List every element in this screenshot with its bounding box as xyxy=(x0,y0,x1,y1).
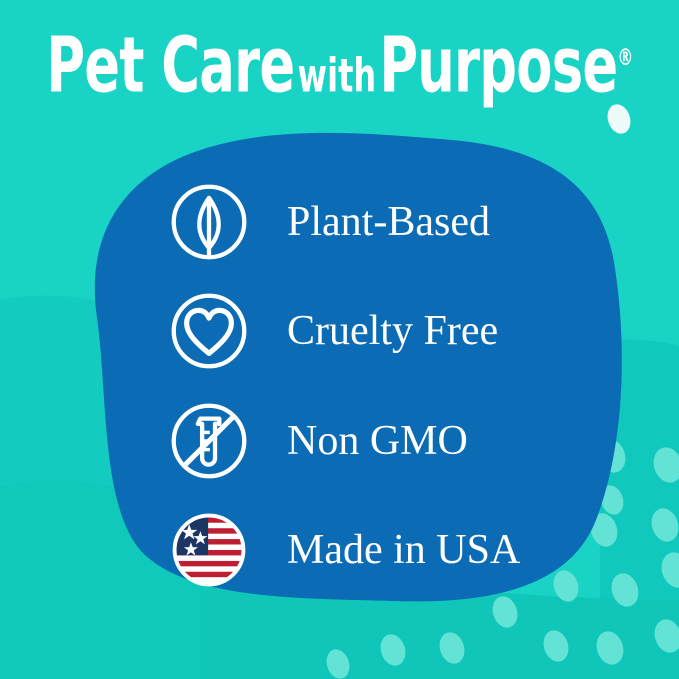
badge-label-made-in-usa: Made in USA xyxy=(287,529,520,571)
badge-item-non-gmo: Non GMO xyxy=(166,397,586,485)
badge-label-plant-based: Plant-Based xyxy=(287,201,490,243)
badge-item-plant-based: Plant-Based xyxy=(166,178,586,266)
badge-item-cruelty-free: Cruelty Free xyxy=(166,287,586,375)
no-test-tube-icon xyxy=(166,398,252,484)
usa-flag-circle-icon xyxy=(166,507,252,593)
badge-label-cruelty-free: Cruelty Free xyxy=(287,310,498,352)
badge-item-made-in-usa: Made in USA xyxy=(166,506,586,594)
pet-care-with-purpose-banner: Pet CarewithPurpose® Plant-Based Cruelty… xyxy=(0,0,679,679)
badge-label-non-gmo: Non GMO xyxy=(287,420,468,462)
heart-circle-icon xyxy=(166,288,252,374)
leaf-circle-icon xyxy=(166,179,252,265)
badge-list: Plant-Based Cruelty Free Non GMO xyxy=(166,178,586,594)
